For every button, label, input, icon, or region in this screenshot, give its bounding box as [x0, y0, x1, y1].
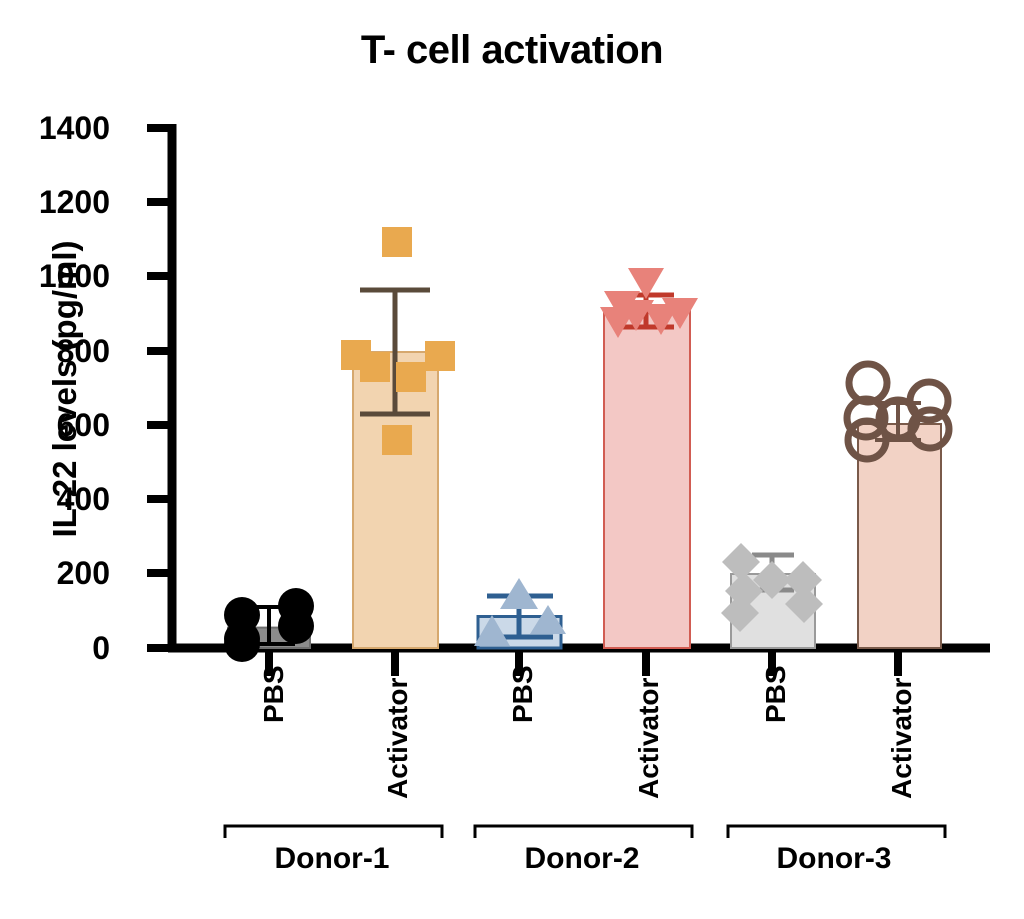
- plot-area: [0, 0, 1024, 919]
- bar-donor2-activator[interactable]: [604, 310, 690, 648]
- group-bracket-donor-1: [225, 826, 442, 838]
- group-bracket-donor-2: [475, 826, 692, 838]
- chart-figure: T- cell activation IL-22 levels (pg/ml) …: [0, 0, 1024, 919]
- x-axis: [168, 648, 990, 676]
- y-axis: [147, 124, 172, 652]
- group-bracket-donor-3: [728, 826, 945, 838]
